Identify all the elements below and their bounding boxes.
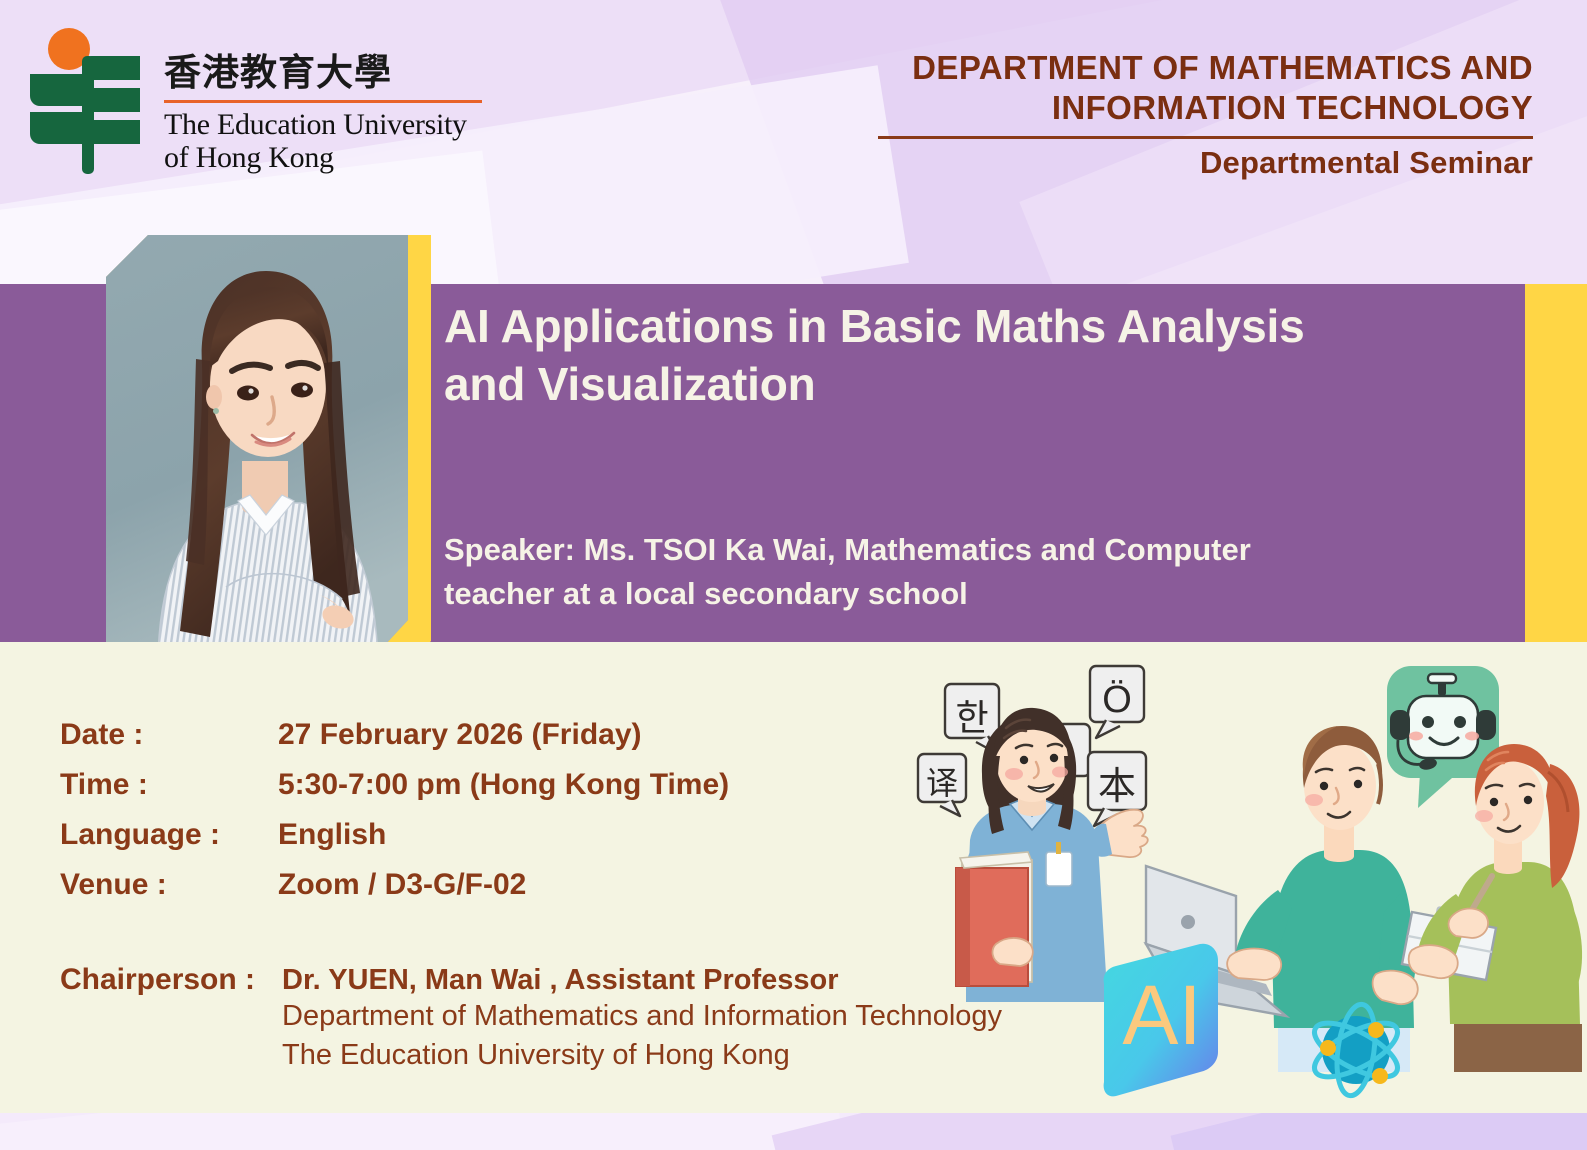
talk-title-line1: AI Applications in Basic Maths Analysis <box>444 298 1494 356</box>
speaker-line1: Speaker: Ms. TSOI Ka Wai, Mathematics an… <box>444 528 1474 572</box>
talk-title: AI Applications in Basic Maths Analysis … <box>444 298 1494 414</box>
seminar-subtitle: Departmental Seminar <box>878 145 1533 181</box>
ai-badge-icon: AI <box>1104 944 1218 1097</box>
university-name-english-line1: The Education University <box>164 108 482 142</box>
seminar-poster: 香港教育大學 The Education University of Hong … <box>0 0 1587 1150</box>
speech-bubble-ko: 한 <box>955 698 988 739</box>
university-name-block: 香港教育大學 The Education University of Hong … <box>164 26 482 175</box>
talk-title-line2: and Visualization <box>444 356 1494 414</box>
chairperson-affiliation-line1: Department of Mathematics and Informatio… <box>282 997 1002 1036</box>
detail-row-venue: Venue : Zoom / D3-G/F-02 <box>60 868 729 918</box>
detail-value-venue: Zoom / D3-G/F-02 <box>278 868 526 902</box>
detail-value-time: 5:30-7:00 pm (Hong Kong Time) <box>278 768 729 802</box>
detail-row-date: Date : 27 February 2026 (Friday) <box>60 718 729 768</box>
department-title-line1: DEPARTMENT OF MATHEMATICS AND <box>878 48 1533 88</box>
chairperson-affiliation-line2: The Education University of Hong Kong <box>282 1036 1002 1075</box>
speech-bubble-ja: 本 <box>1098 764 1136 808</box>
ai-badge-label: AI <box>1122 968 1201 1062</box>
department-heading: DEPARTMENT OF MATHEMATICS AND INFORMATIO… <box>878 48 1533 181</box>
speaker-info: Speaker: Ms. TSOI Ka Wai, Mathematics an… <box>444 528 1474 616</box>
department-title-line2: INFORMATION TECHNOLOGY <box>878 88 1533 128</box>
footer-diagonal-band <box>0 1113 844 1150</box>
detail-label-venue: Venue : <box>60 868 278 902</box>
detail-value-date: 27 February 2026 (Friday) <box>278 718 642 752</box>
logo-divider <box>164 100 482 103</box>
department-divider <box>878 136 1533 139</box>
detail-value-language: English <box>278 818 386 852</box>
speaker-line2: teacher at a local secondary school <box>444 572 1474 616</box>
university-logo: 香港教育大學 The Education University of Hong … <box>24 26 482 176</box>
chairperson-label: Chairperson : <box>60 963 282 997</box>
university-name-chinese: 香港教育大學 <box>164 54 482 93</box>
chairperson-heading: Chairperson : Dr. YUEN, Man Wai , Assist… <box>60 963 1002 997</box>
event-details: Date : 27 February 2026 (Friday) Time : … <box>60 718 729 918</box>
detail-label-date: Date : <box>60 718 278 752</box>
footer-strip <box>0 1113 1587 1150</box>
detail-row-time: Time : 5:30-7:00 pm (Hong Kong Time) <box>60 768 729 818</box>
university-name-english-line2: of Hong Kong <box>164 141 482 175</box>
speaker-portrait <box>106 235 408 660</box>
speech-bubble-zh: 译 <box>926 764 958 802</box>
euhk-leaf-sun-logo-icon <box>24 26 146 176</box>
speech-bubble-umlaut: Ö <box>1102 679 1132 721</box>
detail-row-language: Language : English <box>60 818 729 868</box>
banner-yellow-edge <box>1525 284 1587 642</box>
detail-label-language: Language : <box>60 818 278 852</box>
speaker-photo-frame <box>106 235 431 683</box>
ai-language-teamwork-illustration: 한 译 A Ö 本 <box>900 644 1587 1104</box>
chairperson-name: Dr. YUEN, Man Wai , Assistant Professor <box>282 964 839 997</box>
chairperson-block: Chairperson : Dr. YUEN, Man Wai , Assist… <box>60 963 1002 1075</box>
detail-label-time: Time : <box>60 768 278 802</box>
